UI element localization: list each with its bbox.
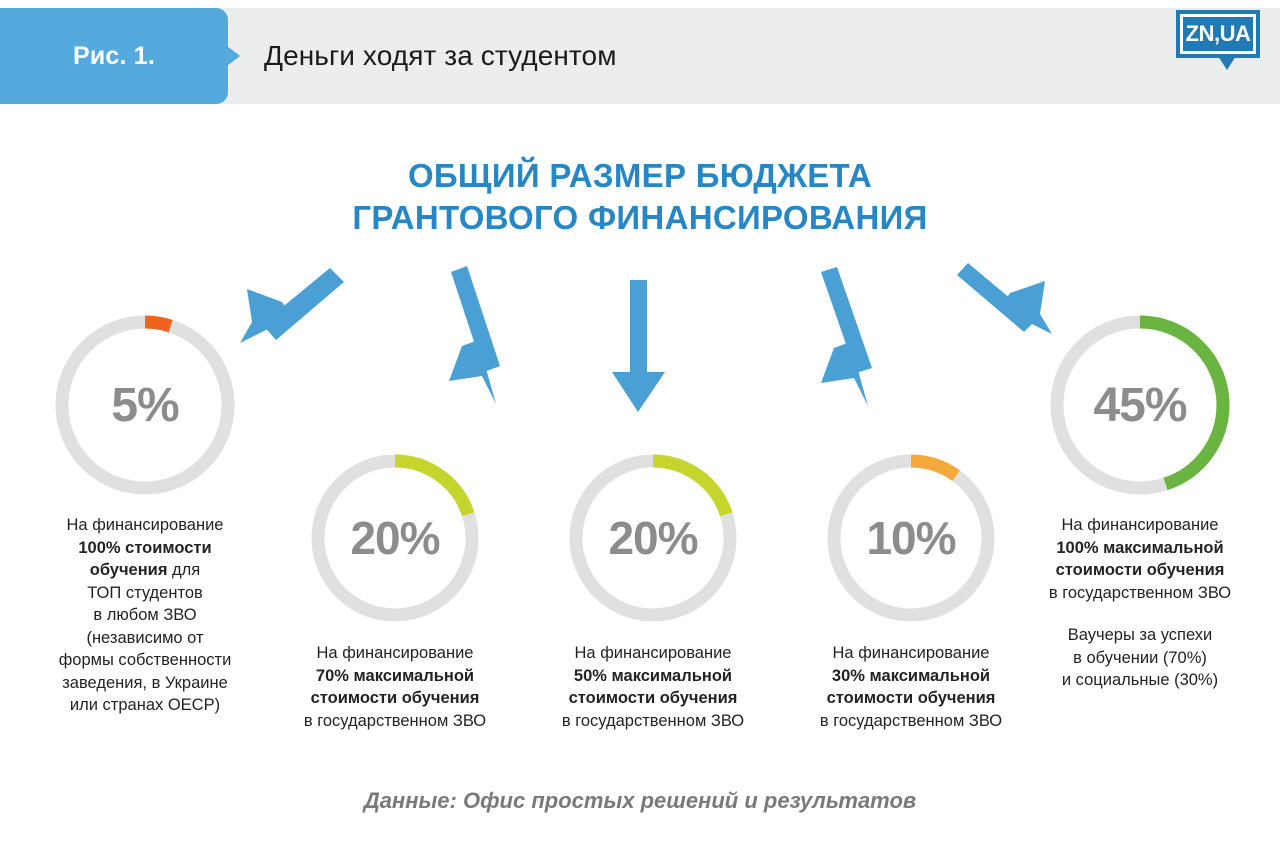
donut-column-3: 20% На финансирование50% максимальнойсто…	[528, 450, 778, 732]
figure-number-label: Рис. 1.	[73, 42, 155, 71]
arrow-down-icon	[612, 280, 665, 412]
page-title-line-2: ГРАНТОВОГО ФИНАНСИРОВАНИЯ	[0, 197, 1280, 239]
donut-value-10: 10%	[823, 450, 999, 626]
donut-chart-20-a: 20%	[307, 450, 483, 626]
donut-caption-20-a: На финансирование70% максимальнойстоимос…	[272, 642, 518, 732]
donut-value-45: 45%	[1045, 310, 1235, 500]
donut-chart-5: 5%	[50, 310, 240, 500]
donut-caption-45: На финансирование100% максимальнойстоимо…	[1014, 514, 1266, 604]
logo-speech-tail-icon	[1218, 56, 1236, 70]
donut-column-4: 10% На финансирование30% максимальнойсто…	[788, 450, 1034, 732]
donut-column-1: 5% На финансирование100% стоимостиобучен…	[20, 310, 270, 717]
page-title: ОБЩИЙ РАЗМЕР БЮДЖЕТА ГРАНТОВОГО ФИНАНСИР…	[0, 155, 1280, 239]
header-bar: Рис. 1. Деньги ходят за студентом	[0, 8, 1280, 104]
page-title-line-1: ОБЩИЙ РАЗМЕР БЮДЖЕТА	[0, 155, 1280, 197]
donut-column-2: 20% На финансирование70% максимальнойсто…	[272, 450, 518, 732]
source-note: Данные: Офис простых решений и результат…	[0, 788, 1280, 814]
donut-value-5: 5%	[50, 310, 240, 500]
donut-value-20-a: 20%	[307, 450, 483, 626]
donut-value-20-b: 20%	[565, 450, 741, 626]
donut-column-5: 45% На финансирование100% максимальнойст…	[1014, 310, 1266, 692]
logo-text: ZN,UA	[1180, 14, 1256, 54]
donut-chart-10: 10%	[823, 450, 999, 626]
donut-caption-10: На финансирование30% максимальнойстоимос…	[788, 642, 1034, 732]
donut-chart-45: 45%	[1045, 310, 1235, 500]
donut-caption-5: На финансирование100% стоимостиобучения …	[20, 514, 270, 717]
arrow-down-right-icon-2	[821, 267, 872, 406]
donut-caption-20-b: На финансирование50% максимальнойстоимос…	[528, 642, 778, 732]
tab-arrow-icon	[227, 46, 240, 66]
zn-ua-logo[interactable]: ZN,UA	[1176, 10, 1260, 58]
donut-extra-caption-45: Ваучеры за успехив обучении (70%)и социа…	[1014, 624, 1266, 692]
header-title: Деньги ходят за студентом	[264, 8, 617, 104]
arrow-down-right-icon-1	[449, 266, 500, 404]
figure-number-tab: Рис. 1.	[0, 8, 228, 104]
donut-chart-20-b: 20%	[565, 450, 741, 626]
